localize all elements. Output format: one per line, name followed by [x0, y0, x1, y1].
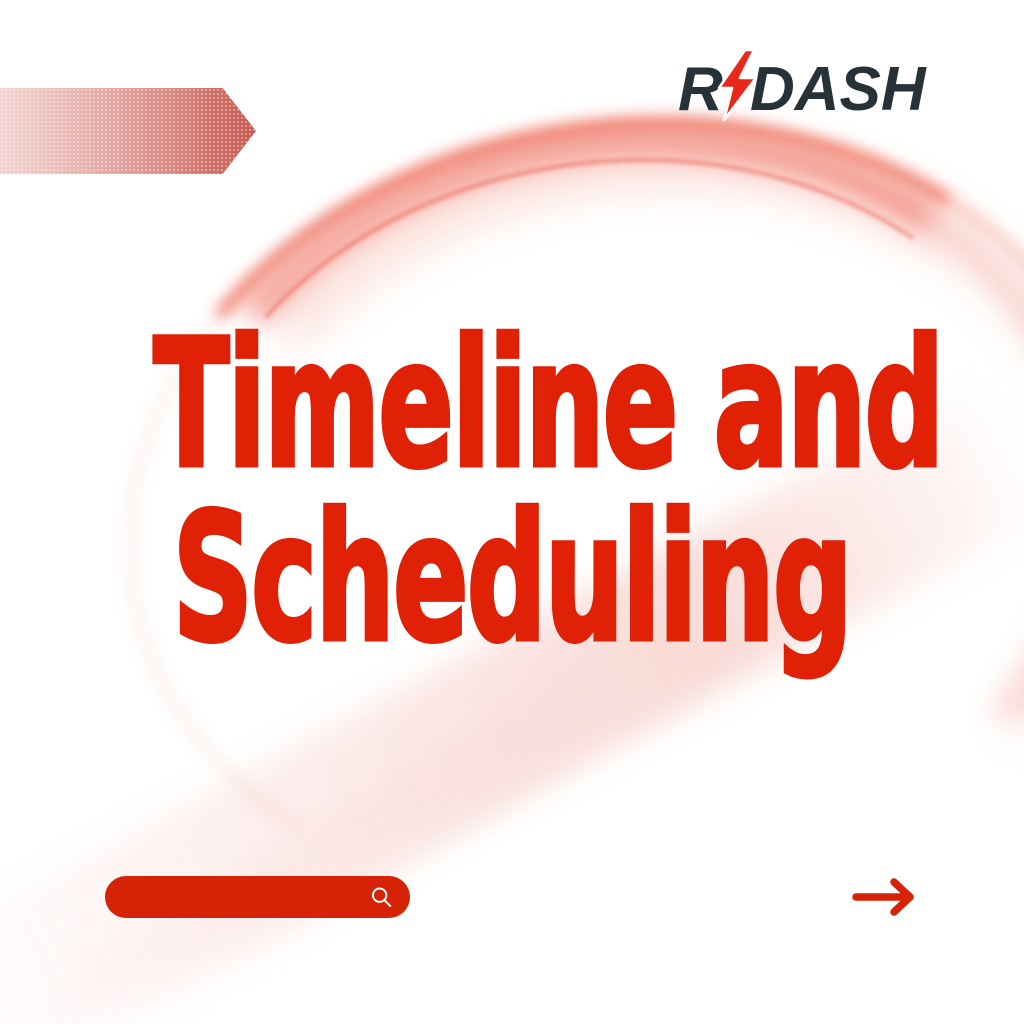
- page-title-line-1: Timeline and: [154, 318, 871, 492]
- brand-logo-svg: R DASH: [672, 48, 972, 126]
- search-input[interactable]: [105, 876, 360, 918]
- page-title-line-2: Scheduling: [154, 492, 871, 666]
- page-title: Timeline and Scheduling: [154, 318, 871, 666]
- brand-wordmark: R DASH: [678, 55, 927, 124]
- ribbon-banner-dot-texture: [0, 88, 256, 174]
- search-icon[interactable]: [369, 885, 394, 910]
- slide-canvas: R DASH Timeline and Scheduling: [0, 0, 1024, 1024]
- brand-word-dash: DASH: [750, 55, 927, 124]
- brand-letter-r: R: [678, 55, 723, 124]
- search-bar[interactable]: [105, 876, 410, 918]
- brand-logo: R DASH: [672, 48, 972, 126]
- arrow-right-icon[interactable]: [848, 877, 924, 917]
- next-button[interactable]: [846, 876, 926, 918]
